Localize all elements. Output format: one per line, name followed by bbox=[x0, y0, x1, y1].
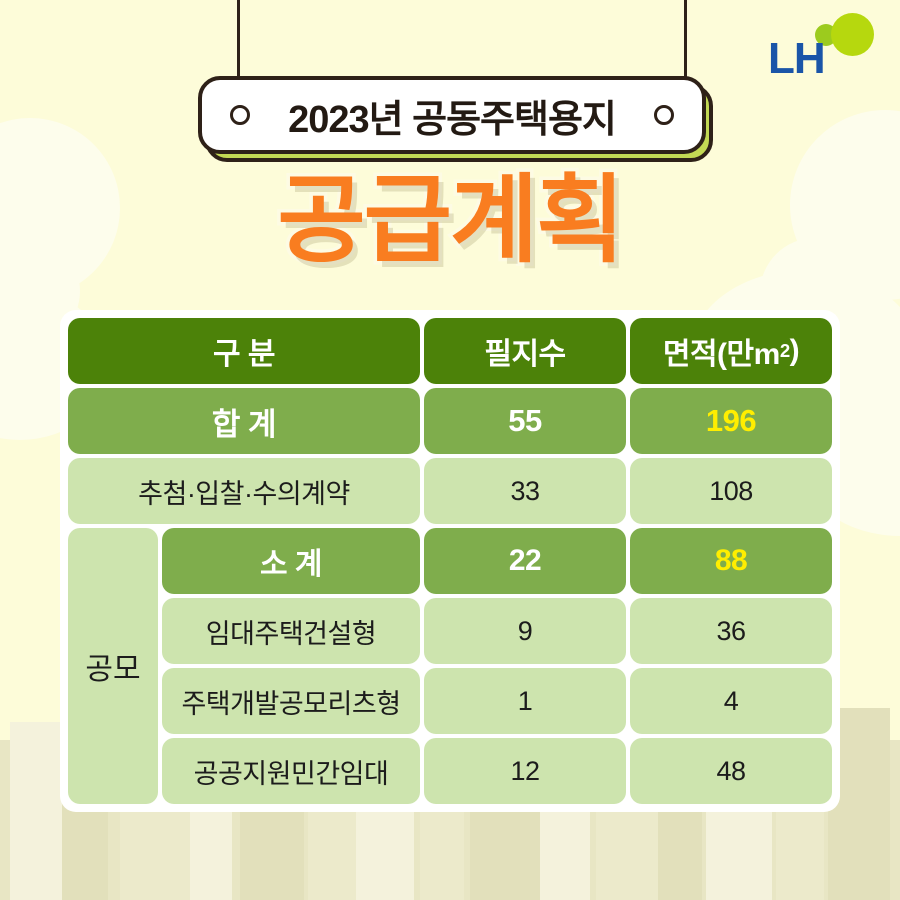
row-label: 주택개발공모리츠형 bbox=[162, 668, 420, 734]
area-label-prefix: 면적(만m bbox=[663, 329, 780, 373]
table-row-subtotal: 소 계 22 88 bbox=[162, 528, 832, 594]
subtotal-area: 88 bbox=[630, 528, 832, 594]
logo-large-circle-icon bbox=[831, 13, 874, 56]
lh-logo: LH bbox=[768, 8, 878, 88]
column-header-area: 면적(만m2) bbox=[630, 318, 832, 384]
area-label-superscript: 2 bbox=[780, 340, 790, 362]
column-header-category: 구 분 bbox=[68, 318, 420, 384]
table-row-total: 합 계 55 196 bbox=[68, 388, 832, 454]
supply-plan-table: 구 분 필지수 면적(만m2) 합 계 55 196 추첨·입찰·수의계약 33… bbox=[60, 310, 840, 812]
area-label-suffix: ) bbox=[790, 334, 800, 368]
row-parcels: 9 bbox=[424, 598, 626, 664]
direct-label: 추첨·입찰·수의계약 bbox=[68, 458, 420, 524]
row-label: 공공지원민간임대 bbox=[162, 738, 420, 804]
title-banner: 2023년 공동주택용지 bbox=[198, 76, 706, 154]
group-label-public-offering: 공모 bbox=[68, 528, 158, 804]
banner-title: 2023년 공동주택용지 bbox=[288, 88, 616, 143]
row-area: 4 bbox=[630, 668, 832, 734]
direct-area: 108 bbox=[630, 458, 832, 524]
hanger-ring-left-icon bbox=[230, 105, 250, 125]
group-rows: 소 계 22 88 임대주택건설형 9 36 주택개발공모리츠형 1 4 공공지… bbox=[162, 528, 832, 804]
row-area: 48 bbox=[630, 738, 832, 804]
subtotal-label: 소 계 bbox=[162, 528, 420, 594]
row-label: 임대주택건설형 bbox=[162, 598, 420, 664]
building bbox=[10, 722, 62, 900]
row-parcels: 12 bbox=[424, 738, 626, 804]
column-header-parcels: 필지수 bbox=[424, 318, 626, 384]
table-row: 임대주택건설형 9 36 bbox=[162, 598, 832, 664]
total-label: 합 계 bbox=[68, 388, 420, 454]
direct-parcels: 33 bbox=[424, 458, 626, 524]
table-row: 공공지원민간임대 12 48 bbox=[162, 738, 832, 804]
subtotal-parcels: 22 bbox=[424, 528, 626, 594]
hanger-ring-right-icon bbox=[654, 105, 674, 125]
poster-root: LH 2023년 공동주택용지 공급계획 구 분 필지수 면적(만m2) 합 계… bbox=[0, 0, 900, 900]
table-row-direct: 추첨·입찰·수의계약 33 108 bbox=[68, 458, 832, 524]
total-area: 196 bbox=[630, 388, 832, 454]
row-area: 36 bbox=[630, 598, 832, 664]
table-group-public-offering: 공모 소 계 22 88 임대주택건설형 9 36 주택개발공모리츠형 1 4 bbox=[68, 528, 832, 804]
page-title: 공급계획 bbox=[0, 168, 900, 274]
table-row: 주택개발공모리츠형 1 4 bbox=[162, 668, 832, 734]
logo-text: LH bbox=[768, 34, 825, 84]
row-parcels: 1 bbox=[424, 668, 626, 734]
table-header-row: 구 분 필지수 면적(만m2) bbox=[68, 318, 832, 384]
total-parcels: 55 bbox=[424, 388, 626, 454]
